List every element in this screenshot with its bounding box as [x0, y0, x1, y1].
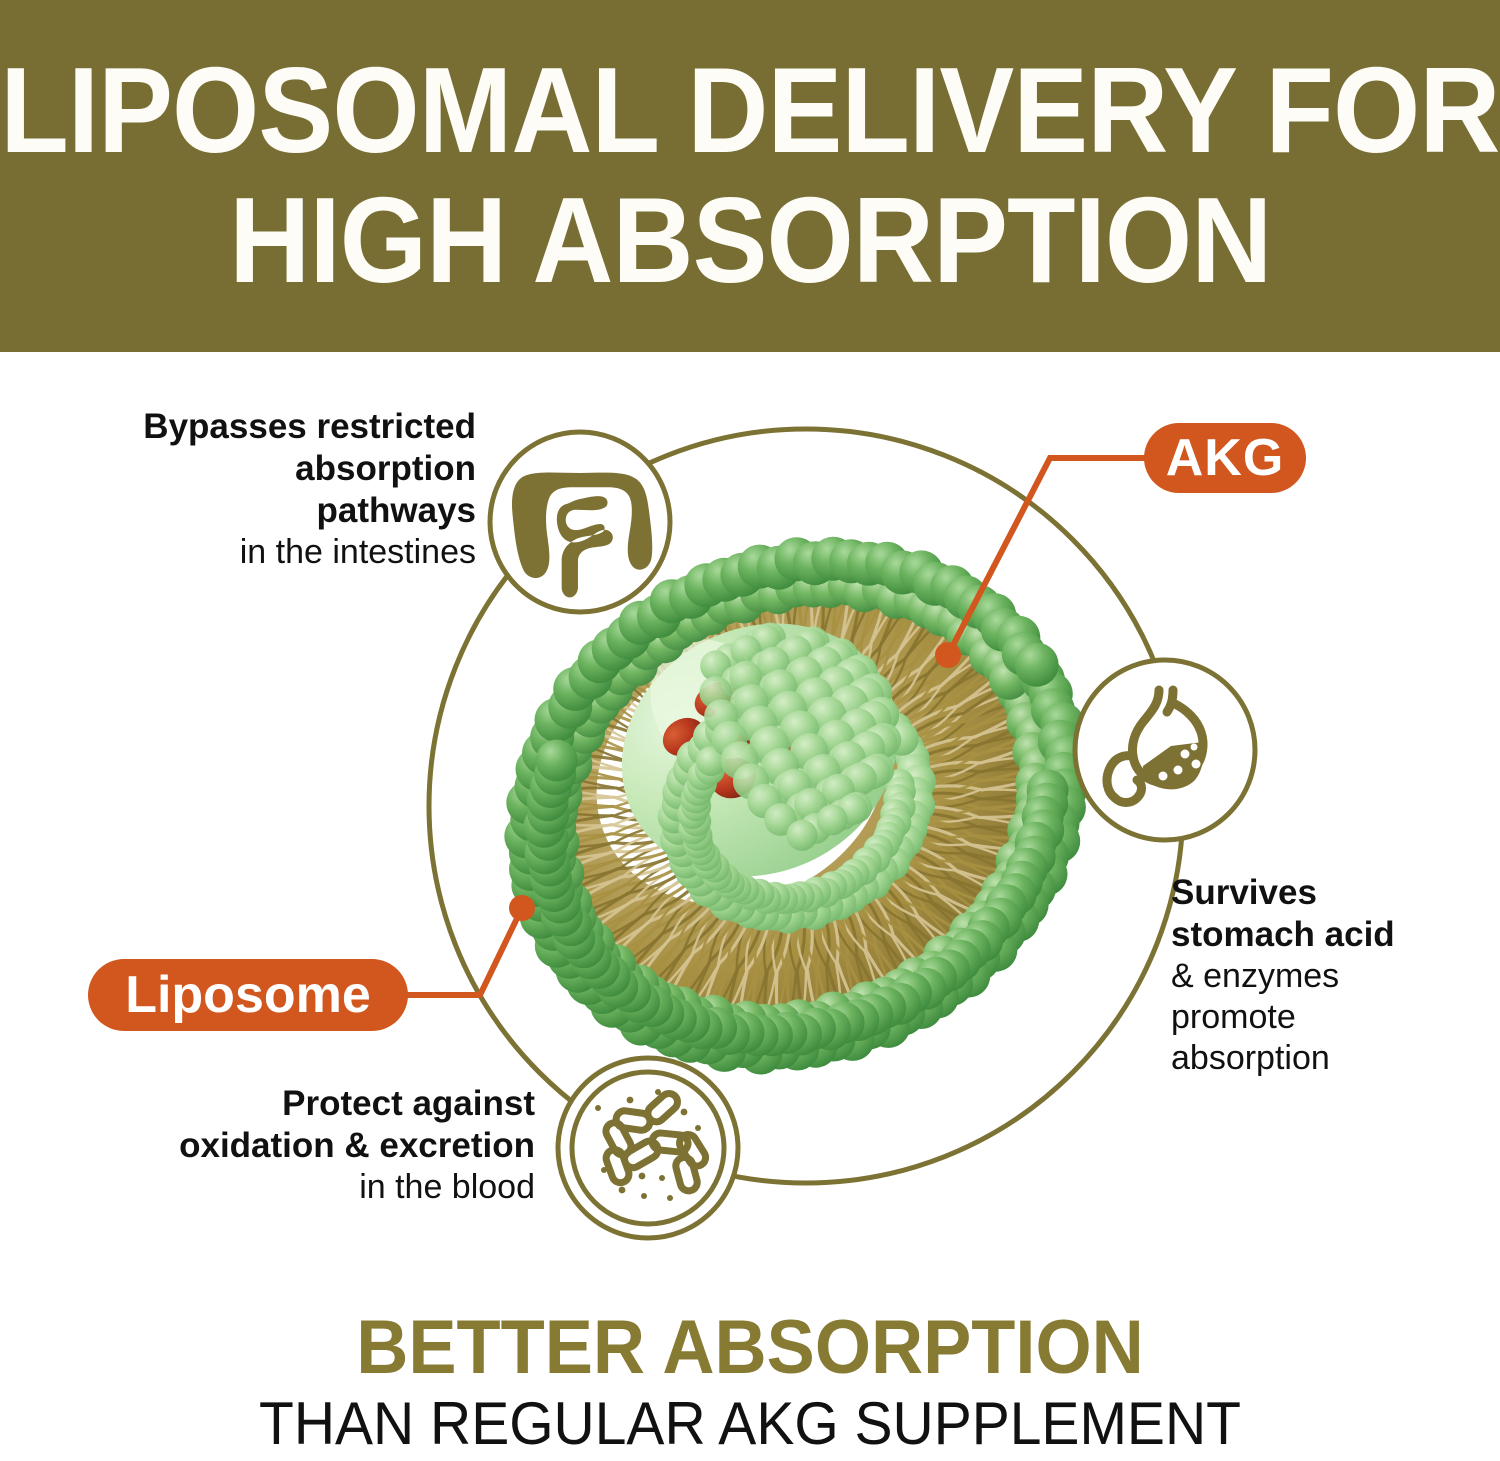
- icon-circle-stomach: [1075, 660, 1255, 840]
- callout-intestines-line1: Bypasses restricted: [24, 406, 476, 448]
- liposome-diagram: [0, 0, 1500, 1461]
- callout-stomach-line4: promote: [1171, 997, 1491, 1038]
- callout-blood: Protect against oxidation & excretion in…: [25, 1083, 535, 1208]
- callout-blood-line3: in the blood: [25, 1167, 535, 1208]
- footer-line1: BETTER ABSORPTION: [38, 1310, 1463, 1386]
- callout-stomach: Survives stomach acid & enzymes promote …: [1171, 872, 1491, 1078]
- akg-badge-label: AKG: [1166, 428, 1285, 488]
- footer: BETTER ABSORPTION THAN REGULAR AKG SUPPL…: [0, 1310, 1500, 1457]
- callout-stomach-line3: & enzymes: [1171, 956, 1491, 997]
- icon-circle-intestines: [490, 432, 670, 612]
- callout-intestines-line3: pathways: [24, 490, 476, 532]
- liposome-badge-label: Liposome: [125, 965, 371, 1025]
- callout-intestines-line4: in the intestines: [24, 532, 476, 573]
- footer-line2: THAN REGULAR AKG SUPPLEMENT: [38, 1392, 1463, 1457]
- akg-badge[interactable]: AKG: [1144, 423, 1306, 493]
- liposome-badge[interactable]: Liposome: [88, 959, 408, 1031]
- callout-blood-line1: Protect against: [25, 1083, 535, 1125]
- callout-stomach-line1: Survives: [1171, 872, 1491, 914]
- callout-intestines: Bypasses restricted absorption pathways …: [24, 406, 476, 573]
- callout-blood-line2: oxidation & excretion: [25, 1125, 535, 1167]
- icon-circle-blood: [558, 1058, 738, 1238]
- callout-stomach-line5: absorption: [1171, 1038, 1491, 1079]
- callout-intestines-line2: absorption: [24, 448, 476, 490]
- callout-stomach-line2: stomach acid: [1171, 914, 1491, 956]
